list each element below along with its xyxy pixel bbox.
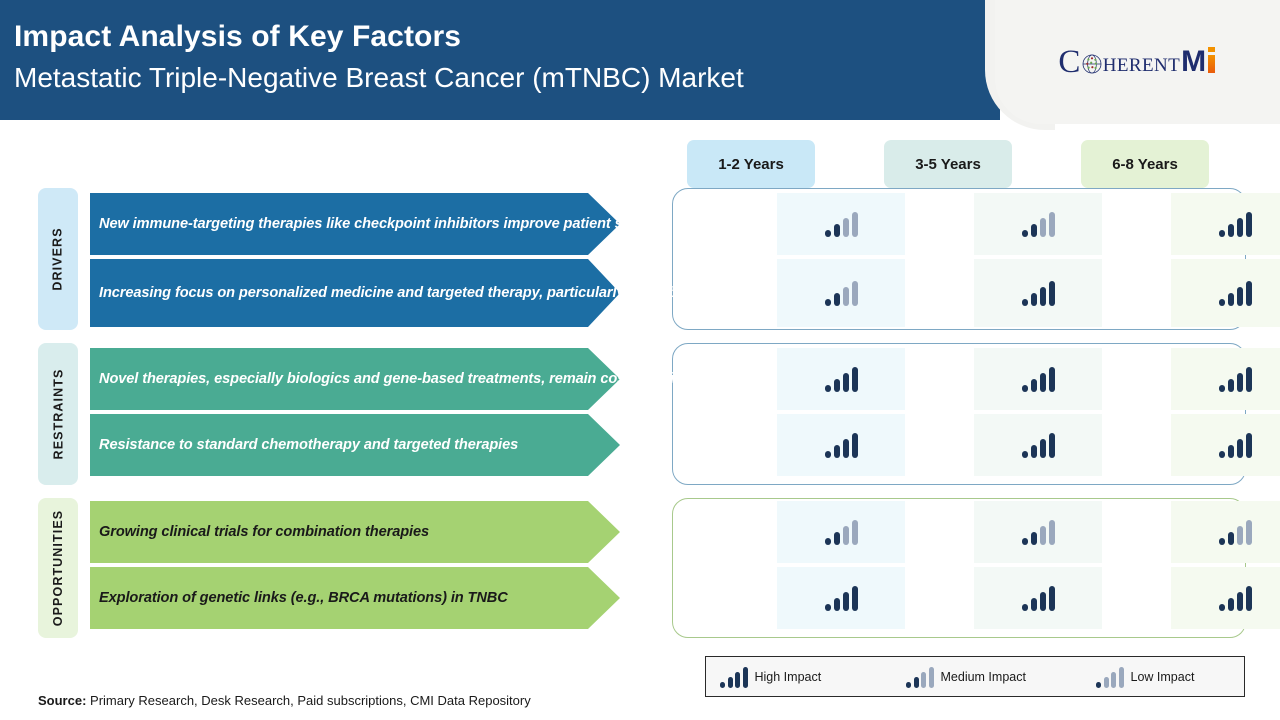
column-header-3: 6-8 Years (1081, 140, 1209, 188)
legend-label: Medium Impact (941, 670, 1026, 684)
impact-bar (843, 218, 849, 237)
impact-bars-high (1219, 432, 1252, 458)
legend-label: High Impact (755, 670, 822, 684)
impact-bar (1022, 230, 1028, 237)
impact-bar (852, 433, 858, 458)
impact-bars-high (720, 666, 748, 688)
impact-cells (762, 193, 1280, 255)
impact-cell-2[interactable] (974, 259, 1102, 327)
impact-bar (852, 281, 858, 306)
impact-bar (1219, 538, 1225, 545)
impact-bars-high (1022, 280, 1055, 306)
impact-bar (1228, 532, 1234, 545)
impact-bar (1219, 604, 1225, 611)
impact-bar (834, 379, 840, 392)
impact-bar (843, 373, 849, 392)
impact-cell-3[interactable] (1171, 501, 1280, 563)
impact-bar (825, 385, 831, 392)
impact-bar (1111, 672, 1116, 688)
impact-bar (1246, 212, 1252, 237)
impact-bars-high (825, 432, 858, 458)
logo-i-dot (1208, 47, 1215, 52)
impact-bar (1022, 604, 1028, 611)
impact-bar (1237, 373, 1243, 392)
impact-bar (1246, 586, 1252, 611)
impact-bar (1219, 230, 1225, 237)
logo-inner: C herent M (1058, 44, 1216, 81)
impact-bars-high (1022, 585, 1055, 611)
impact-bar (1237, 439, 1243, 458)
impact-bar (1228, 598, 1234, 611)
factor-row[interactable]: Resistance to standard chemotherapy and … (90, 414, 1246, 476)
impact-bars-medium (825, 519, 858, 545)
impact-bar (1228, 379, 1234, 392)
impact-bar (834, 445, 840, 458)
impact-bar (914, 677, 919, 688)
impact-bar (929, 667, 934, 688)
impact-bar (852, 367, 858, 392)
impact-bar (1119, 667, 1124, 688)
impact-bars-medium (1022, 211, 1055, 237)
impact-bar (825, 451, 831, 458)
impact-cell-2[interactable] (974, 414, 1102, 476)
brand-logo[interactable]: C herent M (995, 0, 1280, 124)
impact-bar (921, 672, 926, 688)
impact-cell-2[interactable] (974, 193, 1102, 255)
impact-bar (1031, 598, 1037, 611)
logo-letter-c: C (1058, 44, 1080, 81)
factor-row[interactable]: Increasing focus on personalized medicin… (90, 259, 1246, 327)
impact-grid: DRIVERSNew immune-targeting therapies li… (0, 188, 1280, 638)
impact-bar (906, 682, 911, 688)
impact-bars-high (825, 585, 858, 611)
legend-item-high: High Impact (720, 666, 821, 688)
impact-cell-1[interactable] (777, 414, 905, 476)
impact-bar (1040, 439, 1046, 458)
impact-cell-1[interactable] (777, 259, 905, 327)
impact-bar (1049, 433, 1055, 458)
impact-bar (825, 538, 831, 545)
impact-bars-high (1219, 211, 1252, 237)
impact-cell-1[interactable] (777, 501, 905, 563)
logo-text-herent: herent (1103, 47, 1180, 78)
group-label-text: RESTRAINTS (51, 369, 65, 460)
impact-bar (1040, 526, 1046, 545)
impact-bar (843, 592, 849, 611)
impact-cell-2[interactable] (974, 348, 1102, 410)
group-label-text: OPPORTUNITIES (51, 510, 65, 626)
impact-cell-3[interactable] (1171, 259, 1280, 327)
impact-bar (1219, 451, 1225, 458)
impact-bar (720, 682, 725, 688)
impact-bar (1237, 287, 1243, 306)
impact-bar (843, 287, 849, 306)
impact-cells (762, 414, 1280, 476)
column-header-label: 6-8 Years (1112, 156, 1178, 173)
impact-bar (834, 224, 840, 237)
column-header-row: 1-2 Years3-5 Years6-8 Years (0, 140, 1280, 188)
impact-cell-2[interactable] (974, 567, 1102, 629)
logo-letter-i (1206, 47, 1217, 77)
impact-bar (852, 586, 858, 611)
impact-bar (1246, 433, 1252, 458)
impact-bar (1049, 212, 1055, 237)
page-subtitle: Metastatic Triple-Negative Breast Cancer… (14, 58, 964, 98)
impact-bar (1040, 592, 1046, 611)
impact-bar (1031, 224, 1037, 237)
impact-bar (1031, 293, 1037, 306)
impact-bar (834, 293, 840, 306)
impact-bar (1237, 526, 1243, 545)
legend: High ImpactMedium ImpactLow Impact (705, 656, 1245, 697)
legend-item-medium: Medium Impact (906, 666, 1026, 688)
factor-row[interactable]: Novel therapies, especially biologics an… (90, 348, 1246, 410)
impact-bars-high (1022, 366, 1055, 392)
impact-cells (762, 259, 1280, 327)
logo-i-bar (1208, 55, 1215, 73)
impact-bar (1049, 520, 1055, 545)
impact-bar (843, 439, 849, 458)
impact-bar (1246, 520, 1252, 545)
impact-bars-high (1022, 432, 1055, 458)
impact-bars-medium (825, 280, 858, 306)
group-opportunities: OPPORTUNITIESGrowing clinical trials for… (0, 498, 1280, 638)
impact-bar (1049, 367, 1055, 392)
impact-cell-3[interactable] (1171, 567, 1280, 629)
group-label-restraints: RESTRAINTS (38, 343, 78, 485)
column-header-label: 1-2 Years (718, 156, 784, 173)
impact-bar (834, 532, 840, 545)
impact-bars-high (1219, 585, 1252, 611)
impact-bar (1031, 445, 1037, 458)
source-note: Source: Primary Research, Desk Research,… (38, 693, 531, 708)
impact-bar (1040, 218, 1046, 237)
impact-bar (1228, 445, 1234, 458)
impact-bar (825, 230, 831, 237)
impact-cell-3[interactable] (1171, 414, 1280, 476)
infographic-root: Impact Analysis of Key Factors Metastati… (0, 0, 1280, 720)
logo-text-m: M (1181, 45, 1206, 79)
impact-bar (1219, 385, 1225, 392)
impact-bar (1228, 293, 1234, 306)
impact-bar (1040, 287, 1046, 306)
impact-cells (762, 501, 1280, 563)
impact-bar (1237, 592, 1243, 611)
impact-cell-2[interactable] (974, 501, 1102, 563)
source-label: Source: (38, 693, 86, 708)
impact-bars-low (1096, 666, 1124, 688)
legend-label: Low Impact (1131, 670, 1195, 684)
impact-bar (1022, 299, 1028, 306)
factor-row[interactable]: Exploration of genetic links (e.g., BRCA… (90, 567, 1246, 629)
impact-bar (834, 598, 840, 611)
impact-bars-medium (1022, 519, 1055, 545)
impact-bar (1228, 224, 1234, 237)
impact-bars-medium (825, 211, 858, 237)
impact-bar (1049, 586, 1055, 611)
impact-cell-1[interactable] (777, 348, 905, 410)
group-restraints: RESTRAINTSNovel therapies, especially bi… (0, 343, 1280, 485)
impact-bar (1104, 677, 1109, 688)
column-header-2: 3-5 Years (884, 140, 1012, 188)
legend-item-low: Low Impact (1096, 666, 1194, 688)
header-text-block: Impact Analysis of Key Factors Metastati… (14, 16, 964, 98)
impact-bar (1049, 281, 1055, 306)
impact-cell-3[interactable] (1171, 193, 1280, 255)
globe-icon (1082, 54, 1102, 74)
impact-bar (825, 604, 831, 611)
impact-bars-high (825, 366, 858, 392)
impact-bar (1237, 218, 1243, 237)
impact-bar (728, 677, 733, 688)
impact-bar (1096, 682, 1101, 688)
impact-bar (1246, 281, 1252, 306)
impact-bar (852, 520, 858, 545)
column-header-label: 3-5 Years (915, 156, 981, 173)
impact-bar (1040, 373, 1046, 392)
impact-cell-1[interactable] (777, 193, 905, 255)
impact-bars-medium (906, 666, 934, 688)
source-value: Primary Research, Desk Research, Paid su… (86, 693, 530, 708)
impact-bar (1022, 538, 1028, 545)
impact-bars-medium (1219, 519, 1252, 545)
impact-bar (743, 667, 748, 688)
impact-cells (762, 567, 1280, 629)
impact-bar (735, 672, 740, 688)
column-header-1: 1-2 Years (687, 140, 815, 188)
impact-cells (762, 348, 1280, 410)
group-drivers: DRIVERSNew immune-targeting therapies li… (0, 188, 1280, 330)
impact-cell-3[interactable] (1171, 348, 1280, 410)
impact-bar (825, 299, 831, 306)
impact-bars-high (1219, 366, 1252, 392)
impact-bar (1031, 379, 1037, 392)
impact-bar (1246, 367, 1252, 392)
factor-row[interactable]: New immune-targeting therapies like chec… (90, 193, 1246, 255)
group-label-opportunities: OPPORTUNITIES (38, 498, 78, 638)
impact-bar (1219, 299, 1225, 306)
impact-bar (843, 526, 849, 545)
impact-cell-1[interactable] (777, 567, 905, 629)
impact-bars-high (1219, 280, 1252, 306)
group-label-text: DRIVERS (51, 227, 65, 290)
impact-bar (852, 212, 858, 237)
page-title: Impact Analysis of Key Factors (14, 16, 964, 58)
impact-bar (1022, 451, 1028, 458)
impact-bar (1022, 385, 1028, 392)
group-label-drivers: DRIVERS (38, 188, 78, 330)
factor-row[interactable]: Growing clinical trials for combination … (90, 501, 1246, 563)
impact-bar (1031, 532, 1037, 545)
